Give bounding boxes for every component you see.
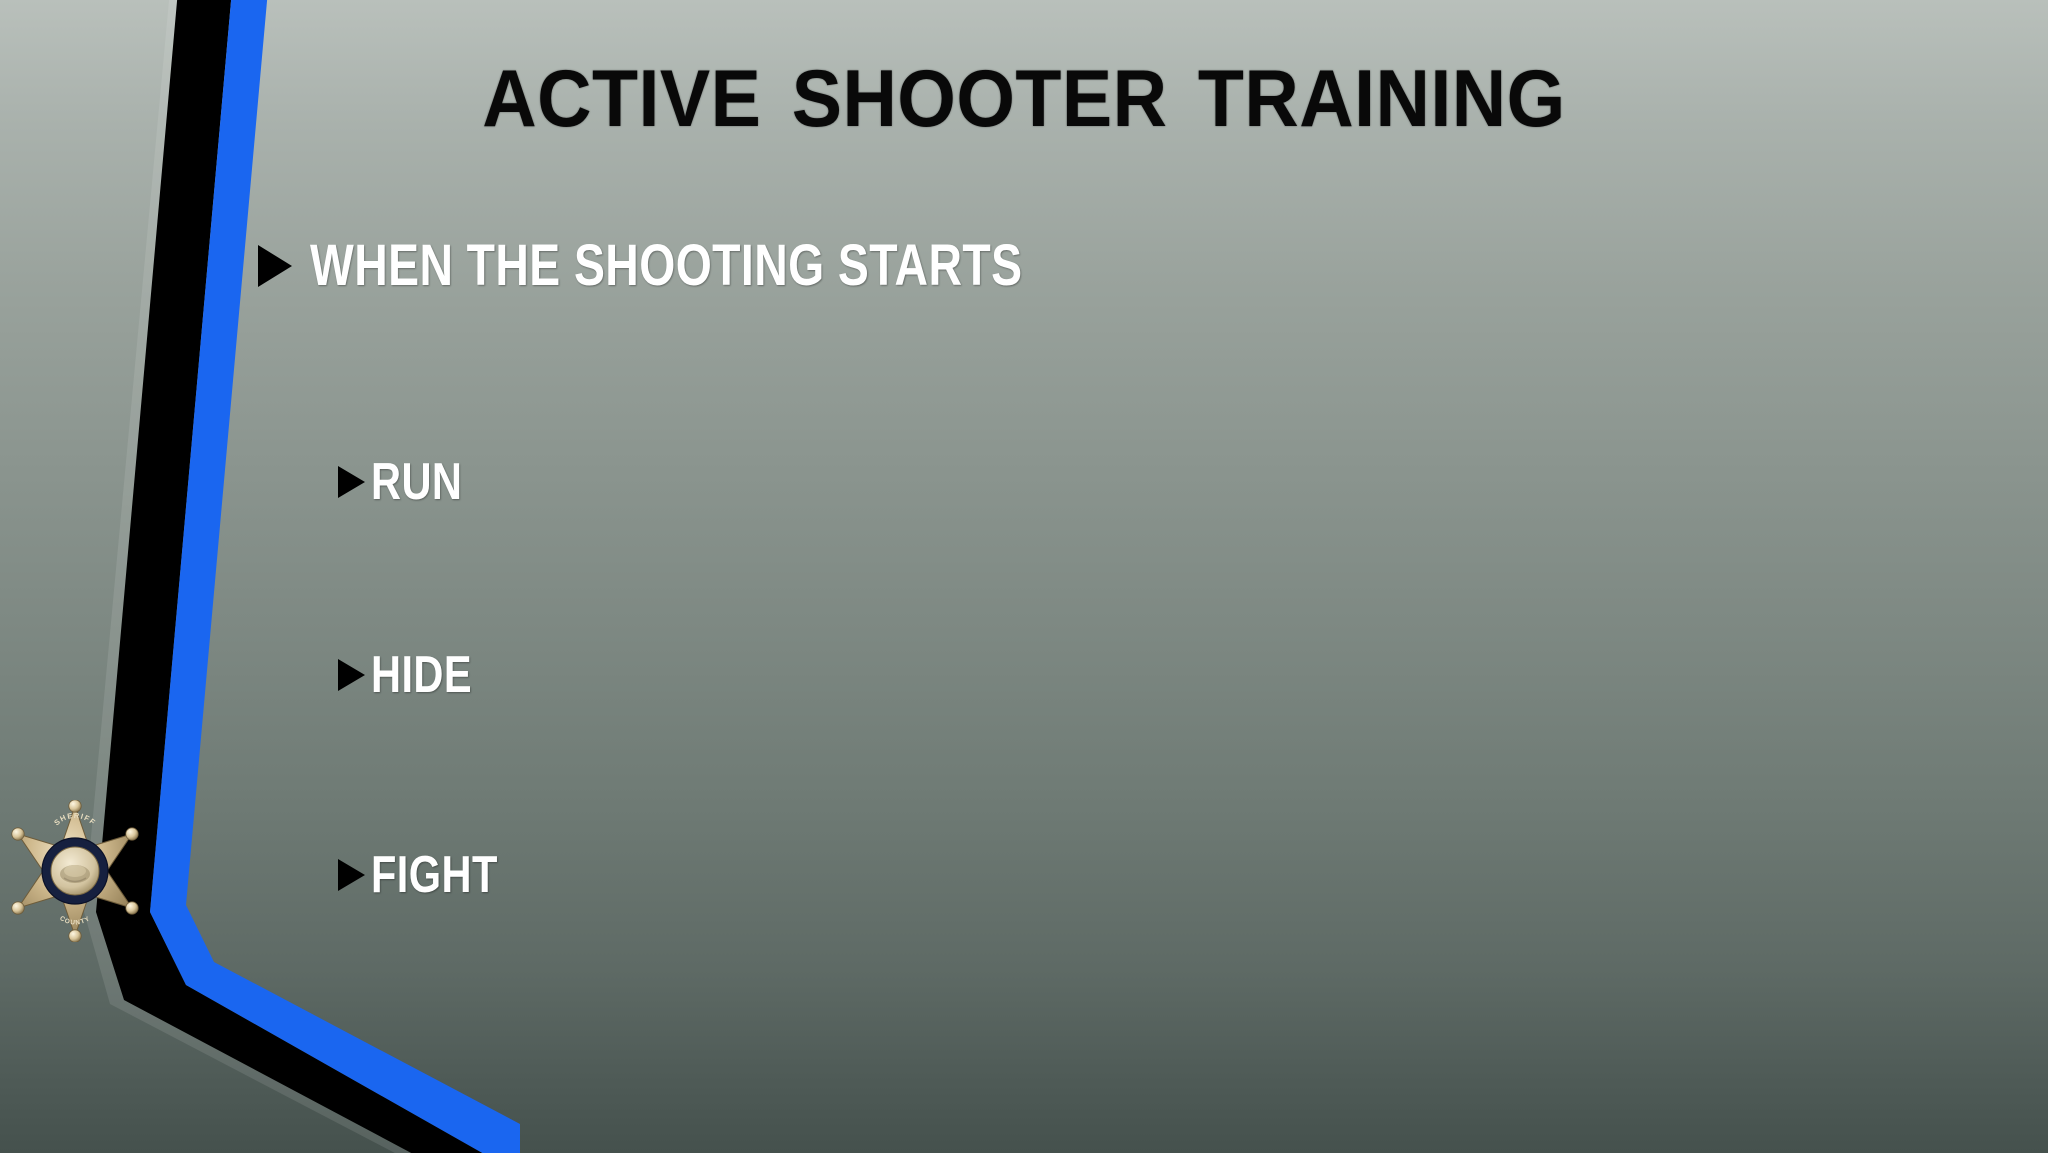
triangle-right-bullet-icon [338, 859, 365, 891]
badge-star-body [18, 806, 132, 936]
badge-center-disc [51, 847, 99, 895]
chevron-blue-band [150, 0, 520, 1153]
bullet-label: RUN [371, 452, 462, 512]
badge-top-text: SHERIFF [52, 811, 98, 827]
badge-point-balls [12, 800, 138, 942]
bullet-run[interactable]: RUN [338, 452, 485, 512]
bullet-label: HIDE [371, 645, 472, 705]
bullet-hide[interactable]: HIDE [338, 645, 497, 705]
chevron-edge-highlight [84, 0, 430, 1153]
bullet-fight[interactable]: FIGHT [338, 845, 529, 905]
bullet-label: FIGHT [371, 845, 498, 905]
slide-canvas: SHERIFF COUNTY Active Shooter Training W… [0, 0, 2048, 1153]
chevron-black-band [96, 0, 500, 1153]
badge-center-emblem [60, 865, 90, 883]
sheriff-star-badge: SHERIFF COUNTY [6, 800, 144, 942]
thin-blue-line-chevron-graphic [0, 0, 520, 1153]
triangle-right-bullet-icon [338, 659, 365, 691]
badge-bottom-text: COUNTY [58, 915, 91, 927]
bullet-label: WHEN THE SHOOTING STARTS [310, 232, 1022, 299]
bullet-when-the-shooting-starts[interactable]: WHEN THE SHOOTING STARTS [258, 232, 1201, 299]
slide-title: Active Shooter Training [72, 28, 1977, 144]
badge-navy-ring [42, 838, 108, 904]
triangle-right-bullet-icon [338, 466, 365, 498]
badge-ring-inner-edge [51, 847, 100, 896]
triangle-right-bullet-icon [258, 245, 292, 287]
